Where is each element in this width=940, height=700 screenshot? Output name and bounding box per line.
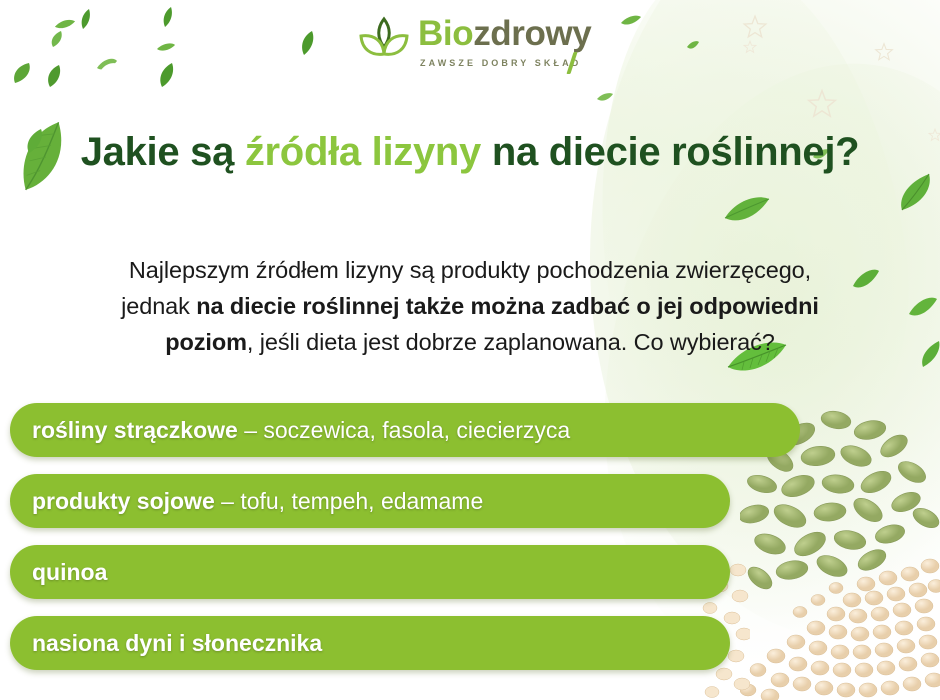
logo-word-primary: Bio bbox=[418, 14, 473, 53]
list-item[interactable]: rośliny strączkowe – soczewica, fasola, … bbox=[10, 403, 800, 457]
logo-wordmark: Biozdrowy bbox=[418, 16, 591, 52]
page-title: Jakie są źródła lizyny na diecie roślinn… bbox=[70, 125, 870, 179]
leaf-icon bbox=[54, 18, 76, 30]
logo-word-secondary: zdrowy bbox=[473, 14, 591, 53]
leaf-icon bbox=[300, 30, 316, 56]
brand-logo[interactable]: Biozdrowy ZAWSZE DOBRY SKŁAD bbox=[358, 14, 588, 76]
leaf-icon bbox=[920, 340, 940, 368]
three-leaf-plant-icon bbox=[358, 16, 410, 66]
list-item-text: rośliny strączkowe – soczewica, fasola, … bbox=[32, 417, 570, 443]
star-icon bbox=[874, 42, 894, 62]
leaf-icon bbox=[156, 42, 176, 52]
leaf-icon bbox=[80, 8, 92, 30]
list-item[interactable]: produkty sojowe – tofu, tempeh, edamame bbox=[10, 474, 730, 528]
leaf-icon bbox=[158, 62, 176, 88]
list-item[interactable]: quinoa bbox=[10, 545, 730, 599]
leaf-icon bbox=[100, 62, 118, 72]
heading-highlight: źródła lizyny bbox=[245, 130, 481, 174]
list-item-term: produkty sojowe bbox=[32, 488, 215, 514]
list-item-text: produkty sojowe – tofu, tempeh, edamame bbox=[32, 488, 483, 514]
heading-part2: na diecie roślinnej? bbox=[481, 130, 859, 174]
leaf-icon bbox=[50, 30, 64, 48]
leaf-icon bbox=[162, 6, 174, 28]
intro-paragraph: Najlepszym źródłem lizyny są produkty po… bbox=[95, 252, 845, 360]
leaf-icon bbox=[16, 118, 74, 196]
heading-part1: Jakie są bbox=[81, 130, 245, 174]
logo-tagline: ZAWSZE DOBRY SKŁAD bbox=[420, 58, 581, 68]
leaf-icon bbox=[25, 128, 45, 154]
list-item-detail: – soczewica, fasola, ciecierzyca bbox=[238, 417, 570, 443]
star-icon bbox=[928, 128, 940, 142]
infographic-canvas: Biozdrowy ZAWSZE DOBRY SKŁAD Jakie są źr… bbox=[0, 0, 940, 700]
list-item-text: nasiona dyni i słonecznika bbox=[32, 630, 322, 656]
leaf-icon bbox=[908, 296, 938, 318]
list-item-detail: – tofu, tempeh, edamame bbox=[215, 488, 484, 514]
list-item-term: nasiona dyni i słonecznika bbox=[32, 630, 322, 656]
list-item-term: quinoa bbox=[32, 559, 107, 585]
leaf-icon bbox=[898, 172, 932, 212]
leaf-icon bbox=[46, 64, 62, 88]
paragraph-part2: , jeśli dieta jest dobrze zaplanowana. C… bbox=[247, 329, 775, 355]
list-item-term: rośliny strączkowe bbox=[32, 417, 238, 443]
list-item-text: quinoa bbox=[32, 559, 107, 585]
list-item[interactable]: nasiona dyni i słonecznika bbox=[10, 616, 730, 670]
leaf-icon bbox=[12, 62, 32, 84]
leaf-icon bbox=[596, 92, 614, 102]
leaf-icon bbox=[96, 56, 118, 72]
